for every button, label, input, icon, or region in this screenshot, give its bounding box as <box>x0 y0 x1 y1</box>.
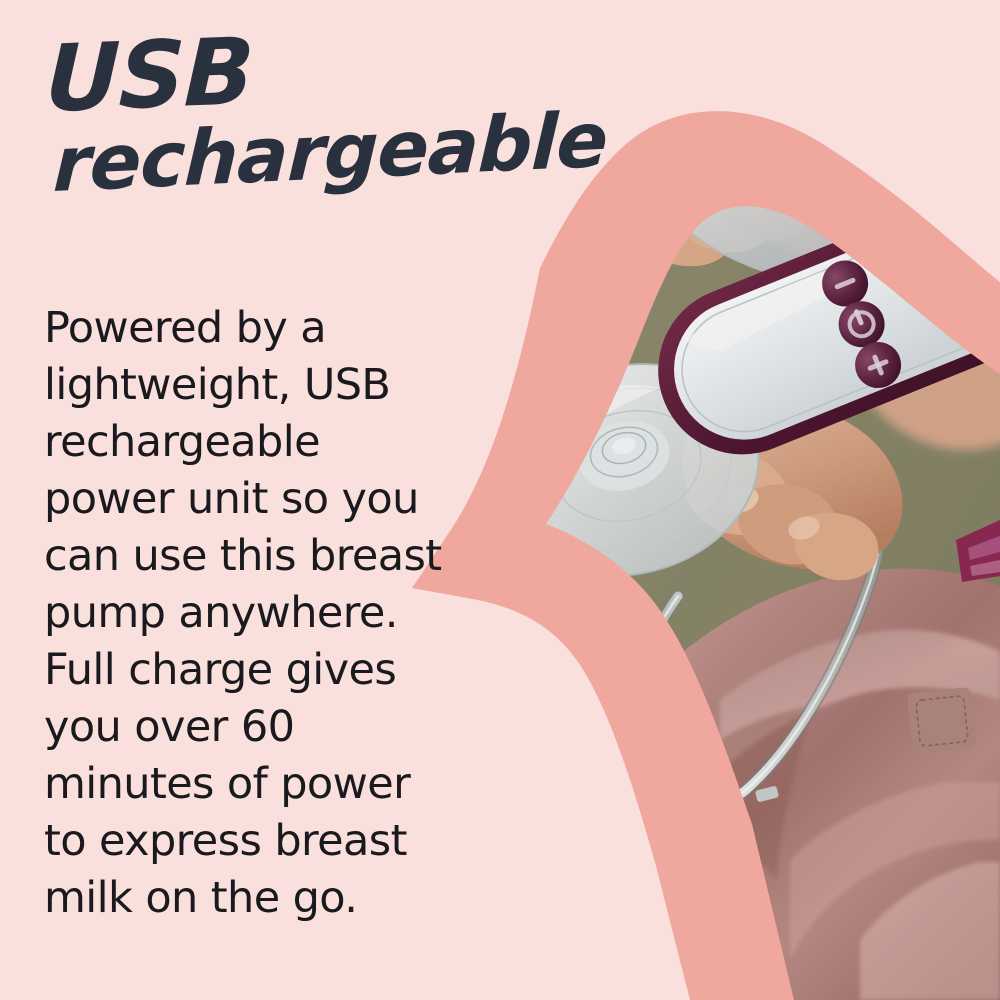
copy-column: USB rechargeable Powered by a lightweigh… <box>0 0 470 1000</box>
page-title: USB rechargeable <box>44 36 524 202</box>
body-paragraph: Powered by a lightweight, USB rechargeab… <box>44 300 444 927</box>
promo-image-canvas: Hand holding a white and plum electric b… <box>0 0 1000 1000</box>
headline-line-2: rechargeable <box>52 108 527 202</box>
